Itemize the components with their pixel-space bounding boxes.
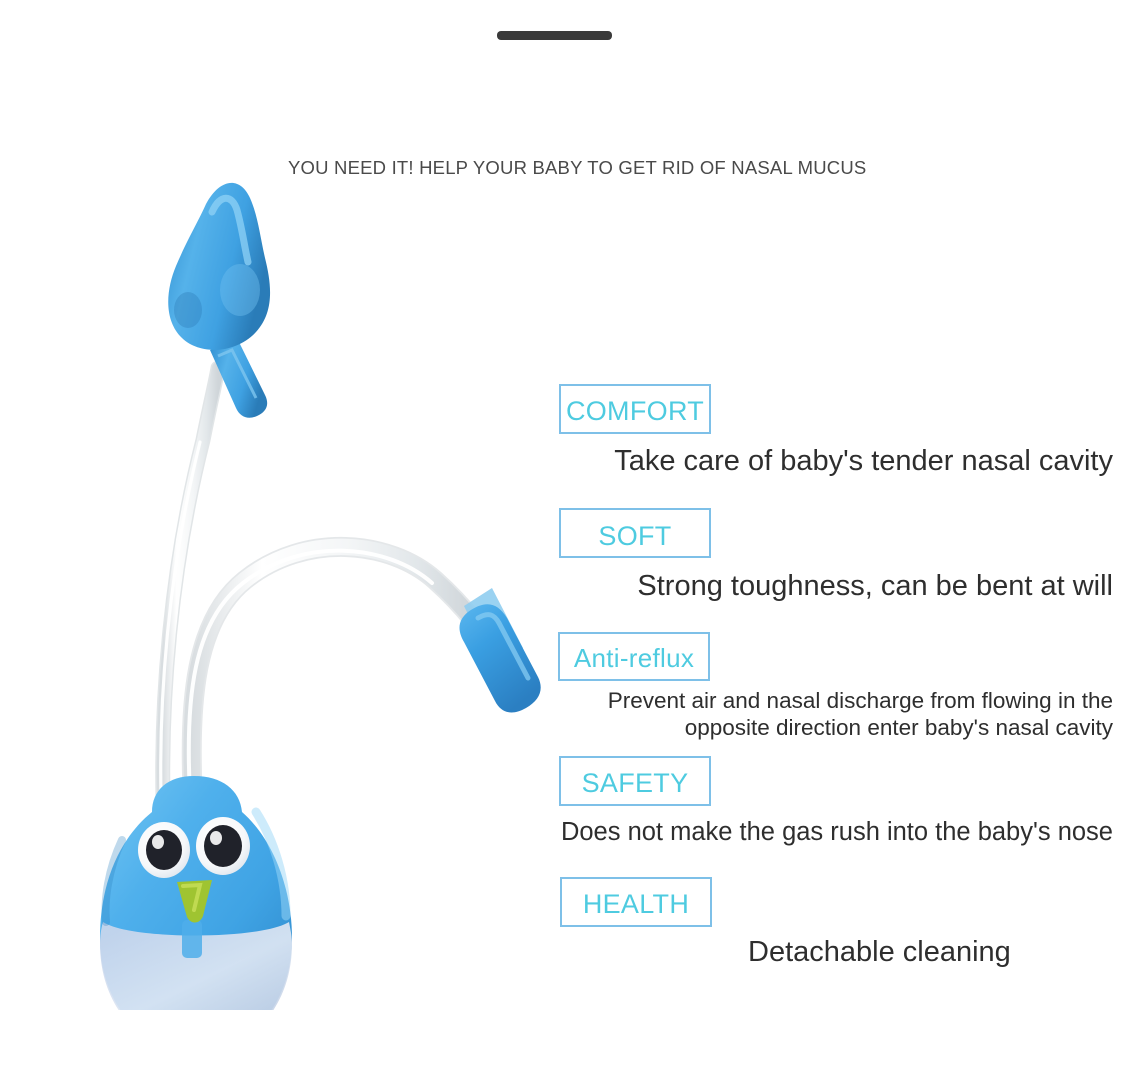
- mouthpiece-part: [459, 588, 540, 712]
- owl-eye-left-part: [138, 822, 190, 878]
- bulb-body-part: [100, 776, 292, 1010]
- product-image: [60, 140, 560, 1010]
- feature-label-comfort: COMFORT: [559, 384, 711, 434]
- feature-description-health: Detachable cleaning: [558, 936, 1006, 969]
- feature-label-health: HEALTH: [560, 877, 712, 927]
- owl-eye-right-part: [196, 817, 250, 875]
- feature-description-soft: Strong toughness, can be bent at will: [558, 570, 1113, 603]
- feature-description-comfort: Take care of baby's tender nasal cavity: [558, 445, 1113, 478]
- feature-description-anti-reflux: Prevent air and nasal discharge from flo…: [558, 687, 1113, 742]
- feature-label-soft: SOFT: [559, 508, 711, 558]
- feature-label-safety: SAFETY: [559, 756, 711, 806]
- handle-bar: [497, 31, 612, 40]
- feature-label-anti-reflux: Anti-reflux: [558, 632, 710, 681]
- product-infographic-page: YOU NEED IT! HELP YOUR BABY TO GET RID O…: [0, 0, 1121, 1080]
- feature-description-safety: Does not make the gas rush into the baby…: [558, 818, 1113, 847]
